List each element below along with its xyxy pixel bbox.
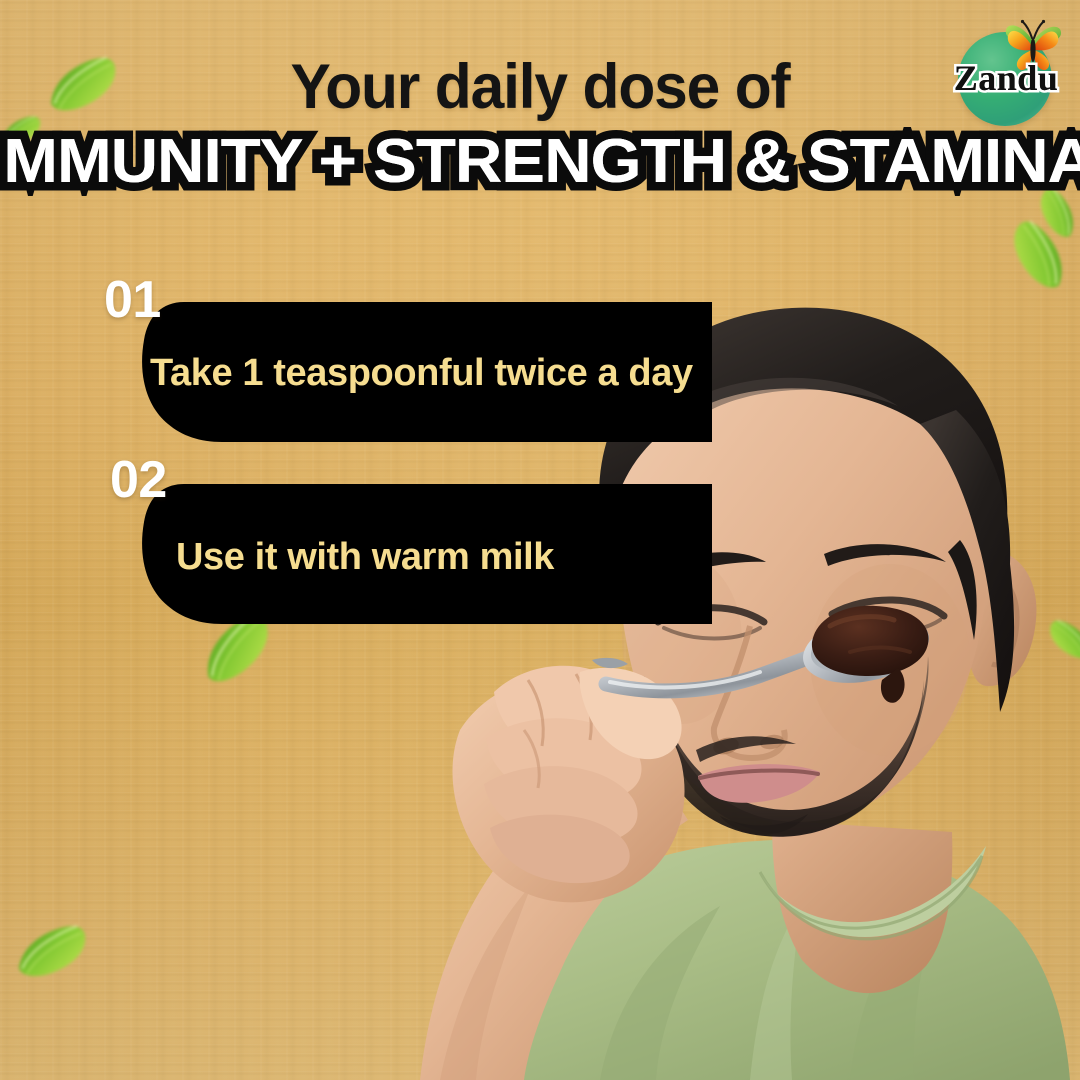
step-02-text: Use it with warm milk <box>176 538 554 576</box>
step-item-01: 01 Take 1 teaspoonful twice a day <box>112 302 712 448</box>
headline-line-2-wrap: IMMUNITY + STRENGTH & STAMINA IMMUNITY +… <box>0 129 1080 201</box>
step-01-text: Take 1 teaspoonful twice a day <box>150 354 693 392</box>
headline-block: Your daily dose of IMMUNITY + STRENGTH &… <box>0 56 1080 201</box>
headline-line-1: Your daily dose of <box>22 56 1059 119</box>
step-01-number: 01 <box>104 274 161 326</box>
leaf-bottom-left <box>9 919 97 985</box>
headline-line-2: IMMUNITY + STRENGTH & STAMINA <box>0 129 1080 194</box>
creative-canvas: Your daily dose of IMMUNITY + STRENGTH &… <box>0 0 1080 1080</box>
step-item-02: 02 Use it with warm milk <box>112 484 712 630</box>
step-02-number: 02 <box>110 454 167 506</box>
